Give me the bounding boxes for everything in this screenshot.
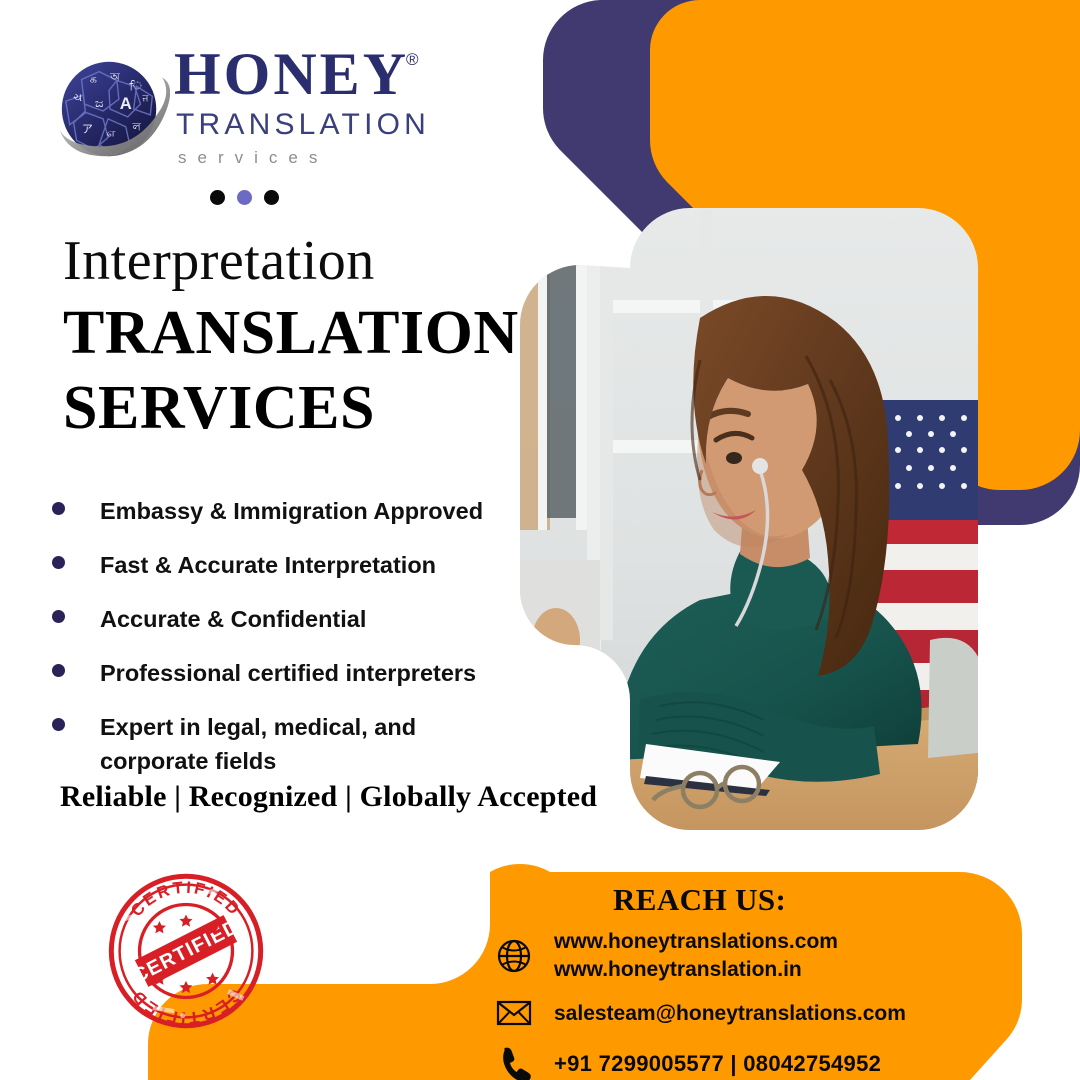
certified-stamp-icon: CERTIFIED CERTIFIED CERTIFIED bbox=[103, 868, 269, 1034]
feature-text: Fast & Accurate Interpretation bbox=[100, 548, 436, 582]
phone-text[interactable]: +91 7299005577 | 08042754952 bbox=[554, 1049, 881, 1078]
logo-subtitle: TRANSLATION bbox=[176, 110, 474, 140]
logo-tagline: services bbox=[178, 149, 474, 166]
feature-text: Expert in legal, medical, and corporate … bbox=[100, 710, 440, 778]
brand-logo[interactable]: க অ ਿ ચ ಜ A ਜ ア எ ল HONEY ® TRANSLATION … bbox=[52, 44, 472, 179]
list-item: Expert in legal, medical, and corporate … bbox=[52, 710, 522, 778]
list-item: Accurate & Confidential bbox=[52, 602, 522, 636]
feature-list: Embassy & Immigration Approved Fast & Ac… bbox=[52, 494, 522, 798]
svg-text:ચ: ચ bbox=[73, 92, 82, 104]
envelope-icon bbox=[492, 993, 536, 1033]
decorative-dots bbox=[210, 190, 279, 205]
dot-2 bbox=[237, 190, 252, 205]
website-line-1[interactable]: www.honeytranslations.com bbox=[554, 930, 838, 953]
globe-languages-icon: க অ ਿ ચ ಜ A ਜ ア எ ল bbox=[52, 50, 170, 168]
tagline: Reliable | Recognized | Globally Accepte… bbox=[60, 780, 597, 814]
headline-bold-line-2: SERVICES bbox=[63, 376, 533, 441]
globe-icon bbox=[492, 936, 536, 976]
svg-text:க: க bbox=[90, 73, 97, 85]
website-line-2[interactable]: www.honeytranslation.in bbox=[554, 958, 802, 981]
svg-text:A: A bbox=[120, 94, 132, 113]
headline-group: Interpretation TRANSLATION SERVICES bbox=[63, 232, 533, 441]
svg-text:অ: অ bbox=[109, 71, 120, 83]
phone-icon bbox=[492, 1043, 536, 1080]
dot-1 bbox=[210, 190, 225, 205]
contact-row-phone[interactable]: +91 7299005577 | 08042754952 bbox=[492, 1043, 1052, 1080]
feature-text: Embassy & Immigration Approved bbox=[100, 494, 483, 528]
svg-text:எ: எ bbox=[107, 128, 116, 140]
list-item: Professional certified interpreters bbox=[52, 656, 522, 690]
svg-text:ਿ: ਿ bbox=[129, 79, 142, 92]
email-text[interactable]: salesteam@honeytranslations.com bbox=[554, 1000, 906, 1028]
list-item: Embassy & Immigration Approved bbox=[52, 494, 522, 528]
bullet-dot-icon bbox=[52, 502, 65, 515]
list-item: Fast & Accurate Interpretation bbox=[52, 548, 522, 582]
bullet-dot-icon bbox=[52, 718, 65, 731]
logo-wordmark: HONEY ® TRANSLATION services bbox=[174, 44, 474, 166]
svg-text:ア: ア bbox=[82, 124, 93, 136]
headline-bold-line-1: TRANSLATION bbox=[63, 301, 533, 366]
feature-text: Professional certified interpreters bbox=[100, 656, 476, 690]
website-text[interactable]: www.honeytranslations.com www.honeytrans… bbox=[554, 928, 838, 983]
contact-details: www.honeytranslations.com www.honeytrans… bbox=[492, 928, 1052, 1080]
svg-text:CERTIFIED: CERTIFIED bbox=[127, 985, 245, 1028]
bullet-dot-icon bbox=[52, 610, 65, 623]
headline-script-line: Interpretation bbox=[63, 232, 533, 291]
dot-3 bbox=[264, 190, 279, 205]
svg-text:ল: ল bbox=[132, 122, 142, 134]
hero-photo bbox=[500, 190, 1000, 860]
svg-text:ಜ: ಜ bbox=[95, 95, 104, 110]
contact-row-website[interactable]: www.honeytranslations.com www.honeytrans… bbox=[492, 928, 1052, 983]
logo-name: HONEY bbox=[174, 44, 409, 104]
feature-text: Accurate & Confidential bbox=[100, 602, 366, 636]
registered-mark-icon: ® bbox=[406, 50, 496, 70]
contact-row-email[interactable]: salesteam@honeytranslations.com bbox=[492, 993, 1052, 1033]
bullet-dot-icon bbox=[52, 556, 65, 569]
contact-heading: REACH US: bbox=[613, 882, 786, 918]
poster-canvas: க অ ਿ ચ ಜ A ਜ ア எ ল HONEY ® TRANSLATION … bbox=[0, 0, 1080, 1080]
bullet-dot-icon bbox=[52, 664, 65, 677]
